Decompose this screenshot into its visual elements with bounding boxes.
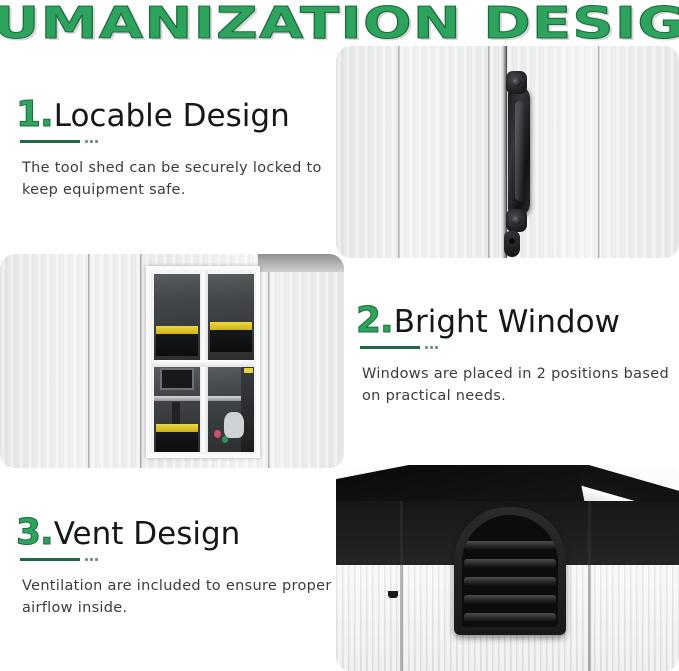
- rule-bar: [360, 346, 420, 349]
- siding-seam: [88, 254, 90, 468]
- interior-yellow-item: [244, 368, 253, 373]
- vent-louver: [464, 595, 556, 604]
- vent-photo: [336, 465, 679, 671]
- rule-dots: [423, 346, 438, 349]
- bin-lid: [156, 424, 198, 432]
- door-handle-photo: [336, 46, 679, 258]
- siding-seam: [488, 46, 490, 258]
- wall-seam: [400, 501, 403, 671]
- feature-title-3: Vent Design: [54, 515, 241, 553]
- interior-box: [160, 368, 194, 390]
- interior-clutter: [214, 430, 221, 438]
- feature-description-3: Ventilation are included to ensure prope…: [22, 575, 334, 619]
- feature-number-3: 3.: [16, 514, 53, 552]
- roof-edge: [258, 254, 344, 272]
- siding-seam: [140, 254, 142, 468]
- rule-bar: [20, 140, 80, 143]
- door-handle-icon: [504, 71, 532, 231]
- window-pane: [154, 274, 200, 360]
- handle-grip: [508, 85, 530, 217]
- handle-screw-boss-bottom: [506, 209, 527, 232]
- vent-bottom-tab: [388, 591, 398, 598]
- storage-bin: [156, 326, 198, 356]
- interior-post: [172, 402, 180, 424]
- feature-rule-2: [360, 346, 676, 349]
- handle-screw-boss-top: [506, 71, 527, 94]
- window-pane: [154, 366, 200, 452]
- vent-louver: [464, 577, 556, 586]
- storage-bin: [210, 322, 252, 352]
- window-photo: [0, 254, 344, 468]
- page-title-bar: HUMANIZATION DESIGN: [0, 0, 679, 48]
- feature-block-2: 2. Bright Window Windows are placed in 2…: [356, 302, 676, 407]
- infographic-page: HUMANIZATION DESIGN: [0, 0, 679, 671]
- feature-block-1: 1. Locable Design The tool shed can be s…: [16, 96, 336, 201]
- page-title: HUMANIZATION DESIGN: [0, 1, 679, 47]
- vent-louver: [464, 613, 556, 622]
- vent-inner: [462, 515, 558, 627]
- feature-heading-3: 3. Vent Design: [16, 514, 336, 553]
- feature-heading-1: 1. Locable Design: [16, 96, 336, 135]
- interior-clutter: [224, 412, 244, 438]
- siding-seam: [268, 254, 270, 468]
- vent-louver: [464, 541, 556, 550]
- window-mullion-horizontal: [152, 360, 254, 367]
- feature-title-2: Bright Window: [394, 303, 620, 341]
- feature-rule-3: [20, 558, 336, 561]
- window-frame: [146, 266, 260, 458]
- wall-seam: [588, 501, 591, 671]
- feature-description-1: The tool shed can be securely locked to …: [22, 157, 334, 201]
- vent-louver: [464, 559, 556, 568]
- rule-bar: [20, 558, 80, 561]
- siding-seam: [598, 46, 600, 258]
- feature-title-1: Locable Design: [54, 97, 290, 135]
- rule-dots: [83, 558, 98, 561]
- window-pane: [208, 366, 254, 452]
- feature-block-3: 3. Vent Design Ventilation are included …: [16, 514, 336, 619]
- bin-lid: [210, 322, 252, 330]
- feature-heading-2: 2. Bright Window: [356, 302, 676, 341]
- feature-description-2: Windows are placed in 2 positions based …: [362, 363, 674, 407]
- interior-cabinet: [241, 366, 254, 452]
- interior-shelf: [154, 396, 200, 401]
- rule-dots: [83, 140, 98, 143]
- handle-latch: [504, 231, 520, 257]
- feature-rule-1: [20, 140, 336, 143]
- interior-clutter: [222, 436, 228, 443]
- feature-number-1: 1.: [16, 96, 53, 134]
- window-pane: [208, 274, 254, 360]
- bin-lid: [156, 326, 198, 334]
- vent-icon: [454, 507, 566, 635]
- siding-seam: [398, 46, 400, 258]
- feature-number-2: 2.: [356, 302, 393, 340]
- storage-bin: [156, 424, 198, 452]
